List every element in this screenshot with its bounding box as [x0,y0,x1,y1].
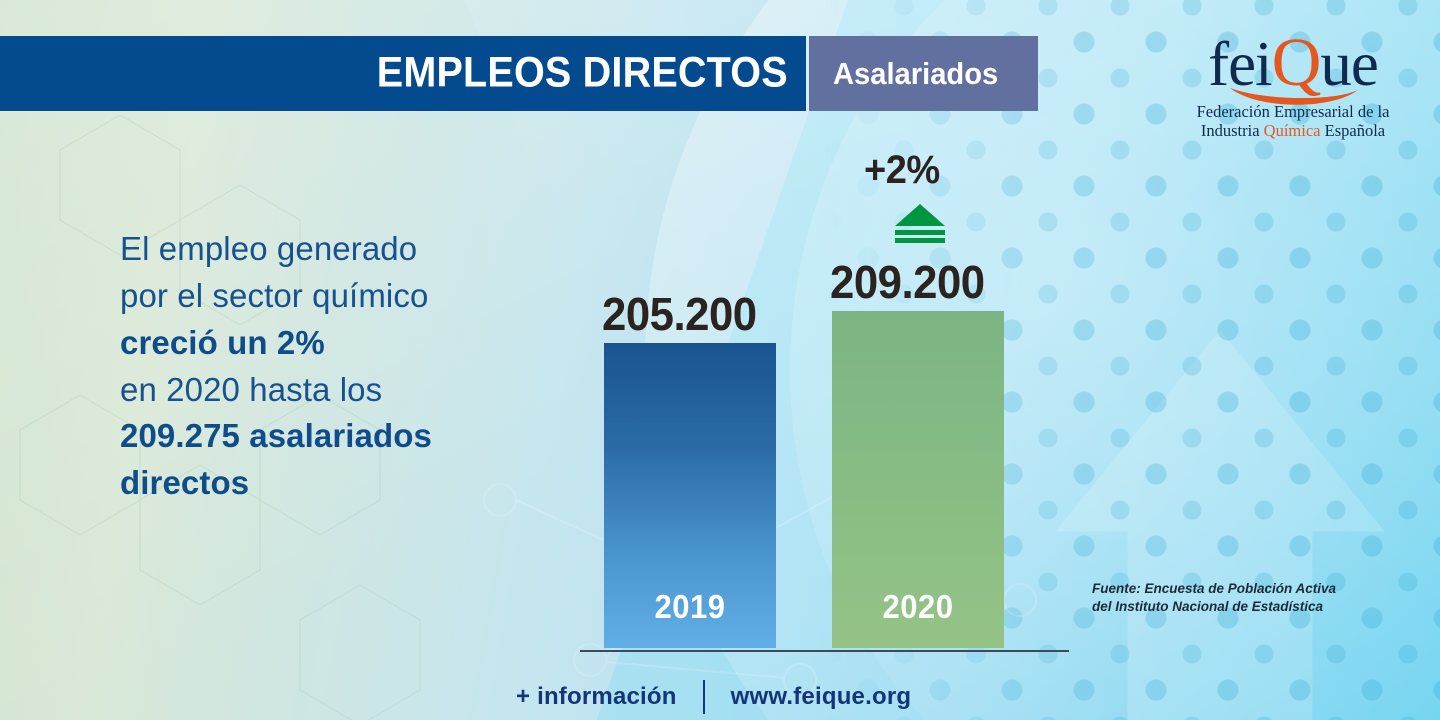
logo-tagline-accent: Química [1264,121,1321,140]
logo-swoosh-icon [1228,84,1360,110]
more-info-label: + información [516,683,677,711]
infographic-canvas: EMPLEOS DIRECTOS Asalariados feiQue Fede… [0,0,1440,720]
summary-copy: El empleo generado por el sector químico… [120,226,590,507]
logo-tagline-post: Española [1321,121,1386,140]
footer-divider [703,680,705,714]
copy-line-2: por el sector químico [120,273,590,320]
header-title-bar: EMPLEOS DIRECTOS [0,36,806,111]
copy-line-6-highlight: directos [120,460,590,507]
chart-axis-line [580,650,1069,652]
copy-line-4: en 2020 hasta los [120,367,590,414]
page-title: EMPLEOS DIRECTOS [377,48,788,97]
footer: + información www.feique.org [516,680,911,714]
header-subtitle: Asalariados [833,56,998,92]
source-note: Fuente: Encuesta de Población Activa del… [1092,580,1342,616]
bar-value-2020: 209.200 [830,255,985,309]
growth-percent-label: +2% [864,148,940,193]
copy-line-1: El empleo generado [120,226,590,273]
bar-value-2019: 205.200 [602,287,757,341]
bar-2020: 2020 [832,311,1004,648]
copy-line-3-highlight: creció un 2% [120,320,590,367]
logo-tagline-line2: Industria Química Española [1168,121,1418,140]
bar-label-2019: 2019 [609,588,771,626]
feique-logo: feiQue Federación Empresarial de la Indu… [1168,30,1418,150]
website-link[interactable]: www.feique.org [731,683,912,711]
logo-wordmark: feiQue [1168,30,1418,96]
copy-line-5-highlight: 209.275 asalariados [120,413,590,460]
bar-2019: 2019 [604,343,776,648]
bar-label-2020: 2020 [837,588,999,626]
header-subtitle-panel: Asalariados [809,36,1038,111]
arrow-up-icon [895,204,945,244]
logo-tagline-pre: Industria [1201,121,1264,140]
